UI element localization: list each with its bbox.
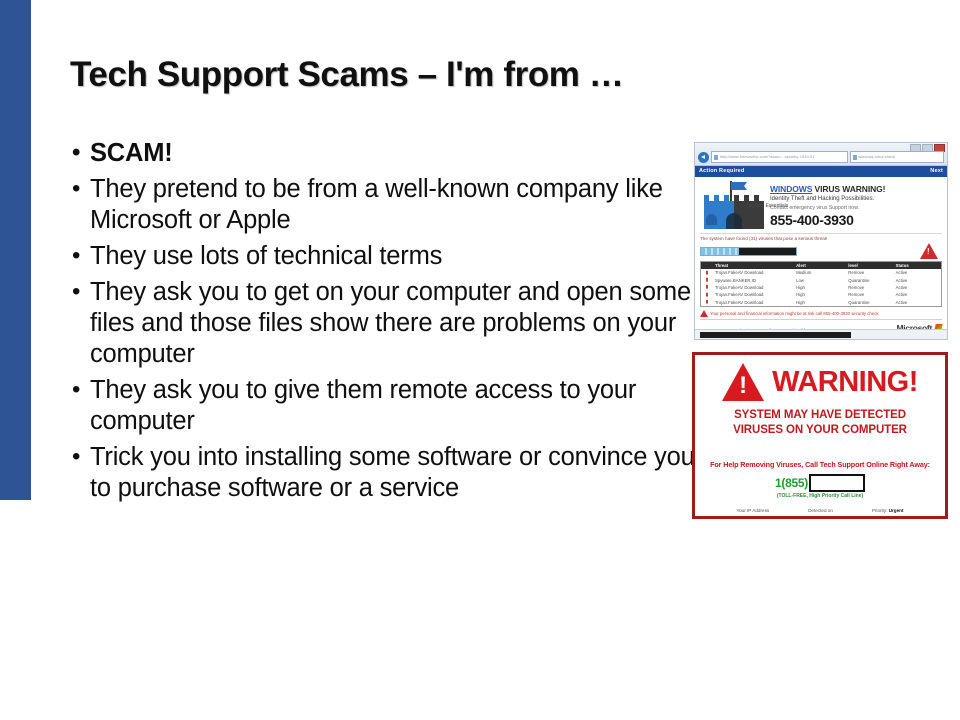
meta-priority: Priority: Urgent bbox=[872, 508, 904, 513]
warning-subtext-line2: VIRUSES ON YOUR COMPUTER bbox=[703, 423, 937, 438]
slide-canvas: Tech Support Scams – I'm from … SCAM! Th… bbox=[0, 0, 960, 720]
toll-free-note: (TOLL-FREE, High Priority Call Line) bbox=[703, 493, 937, 499]
security-essentials-label: Security Essentials bbox=[746, 203, 788, 209]
threat-icon: ▮ bbox=[701, 299, 713, 307]
cell-alert: Trojan.FakeAV Download bbox=[713, 299, 794, 307]
cell-state: Active bbox=[894, 269, 942, 276]
list-item: They use lots of technical terms bbox=[70, 241, 700, 272]
fake-browser-screenshot: http://www.freewarrior.com/?scan=...secu… bbox=[694, 142, 948, 340]
cell-status: Remove bbox=[846, 284, 893, 291]
table-row: ▮ Spyware.BANKER.ID Low Quarantine Activ… bbox=[701, 276, 942, 283]
cell-state: Active bbox=[894, 291, 942, 298]
th-status: Status bbox=[894, 262, 942, 270]
meta-detected-on: Detected on bbox=[808, 508, 833, 513]
horizontal-scrollbar[interactable] bbox=[695, 329, 947, 339]
warning-popup-body: WARNING! SYSTEM MAY HAVE DETECTED VIRUSE… bbox=[695, 355, 945, 513]
list-item: They ask you to get on your computer and… bbox=[70, 277, 700, 370]
cell-level: High bbox=[794, 299, 846, 307]
cell-alert: Trojan.FakeAV Download bbox=[713, 291, 794, 298]
cell-level: Low bbox=[794, 276, 846, 283]
phone-number-row: 1(855) bbox=[703, 474, 937, 492]
virus-warning-subtitle: Identity Theft and Hacking Possibilities… bbox=[770, 196, 942, 202]
security-essentials-castle-icon: Security Essentials bbox=[704, 181, 766, 229]
fake-warning-popup-screenshot: WARNING! SYSTEM MAY HAVE DETECTED VIRUSE… bbox=[692, 352, 948, 519]
scan-progress-row bbox=[700, 243, 942, 259]
warning-subtext: SYSTEM MAY HAVE DETECTED VIRUSES ON YOUR… bbox=[703, 408, 937, 438]
th-level: level bbox=[846, 262, 893, 270]
cell-level: High bbox=[794, 291, 846, 298]
cell-status: Remove bbox=[846, 269, 893, 276]
warning-meta-row: Your IP Address Detected on Priority: Ur… bbox=[703, 508, 937, 513]
threat-icon: ▮ bbox=[701, 269, 713, 276]
table-row: ▮ Trojan.FakeAV Download High Quarantine… bbox=[701, 299, 942, 307]
risk-warning-text: Your personal and financial information … bbox=[710, 311, 878, 316]
list-item: Trick you into installing some software … bbox=[70, 442, 700, 504]
warning-hero: Security Essentials WINDOWS VIRUS WARNIN… bbox=[700, 181, 942, 229]
virus-warning-rest: VIRUS WARNING! bbox=[812, 184, 885, 194]
scrollbar-thumb[interactable] bbox=[700, 332, 851, 338]
threat-icon: ▮ bbox=[701, 291, 713, 298]
scan-progress-bar bbox=[700, 247, 797, 256]
threat-icon: ▮ bbox=[701, 276, 713, 283]
meta-ip-address: Your IP Address bbox=[736, 508, 769, 513]
cell-alert: Trojan.FakeAV Download bbox=[713, 284, 794, 291]
virus-warning-title: WINDOWS VIRUS WARNING! bbox=[770, 184, 942, 194]
cell-state: Active bbox=[894, 276, 942, 283]
call-support-prompt: For Help Removing Viruses, Call Tech Sup… bbox=[703, 460, 937, 469]
table-header-row: Threat Alert level Status bbox=[701, 262, 942, 270]
windows-link[interactable]: WINDOWS bbox=[770, 184, 812, 194]
action-required-label: Action Required bbox=[699, 166, 744, 177]
cell-state: Active bbox=[894, 299, 942, 307]
cell-status: Quarantine bbox=[846, 299, 893, 307]
viruses-found-line: The system have found (31) viruses that … bbox=[700, 233, 942, 241]
list-item: They pretend to be from a well-known com… bbox=[70, 174, 700, 236]
th-alert: Alert bbox=[794, 262, 846, 270]
support-phone-number: 855-400-3930 bbox=[770, 212, 942, 228]
cell-alert: Spyware.BANKER.ID bbox=[713, 276, 794, 283]
phone-prefix: 1(855) bbox=[775, 476, 808, 490]
warning-triangle-icon bbox=[920, 243, 938, 259]
browser-page-body: Security Essentials WINDOWS VIRUS WARNIN… bbox=[695, 177, 947, 333]
table-row: ▮ Trojan.FakeAV Download High Remove Act… bbox=[701, 284, 942, 291]
list-item: They ask you to give them remote access … bbox=[70, 375, 700, 437]
action-required-next: Next bbox=[930, 166, 943, 177]
warning-hero-text: WINDOWS VIRUS WARNING! Identity Theft an… bbox=[770, 181, 942, 228]
table-row: ▮ Trojan.FakeAV Download High Remove Act… bbox=[701, 291, 942, 298]
cell-status: Quarantine bbox=[846, 276, 893, 283]
table-row: ▮ Trojan.FakeAV Download Medium Remove A… bbox=[701, 269, 942, 276]
warning-headline: WARNING! bbox=[772, 365, 918, 399]
slide-accent-bar bbox=[0, 0, 31, 500]
meta-priority-value: Urgent bbox=[889, 508, 904, 513]
back-arrow-icon bbox=[698, 152, 709, 163]
browser-chrome: http://www.freewarrior.com/?scan=...secu… bbox=[695, 143, 947, 166]
risk-warning-line: Your personal and financial information … bbox=[700, 310, 942, 320]
threat-icon: ▮ bbox=[701, 284, 713, 291]
list-item: SCAM! bbox=[70, 138, 700, 169]
exclamation-triangle-icon bbox=[722, 363, 764, 401]
address-bar: http://www.freewarrior.com/?scan=...secu… bbox=[711, 151, 848, 163]
cell-alert: Trojan.FakeAV Download bbox=[713, 269, 794, 276]
browser-nav-row: http://www.freewarrior.com/?scan=...secu… bbox=[698, 151, 944, 163]
cell-level: Medium bbox=[794, 269, 846, 276]
cell-status: Remove bbox=[846, 291, 893, 298]
threat-table: Threat Alert level Status ▮ Trojan.FakeA… bbox=[700, 261, 942, 307]
bullet-list: SCAM! They pretend to be from a well-kno… bbox=[70, 138, 700, 509]
th-threat: Threat bbox=[713, 262, 794, 270]
warning-headline-row: WARNING! bbox=[703, 363, 937, 401]
small-warning-triangle-icon bbox=[700, 310, 708, 317]
phone-number-box bbox=[809, 474, 865, 492]
page-title: Tech Support Scams – I'm from … bbox=[70, 55, 623, 95]
cell-level: High bbox=[794, 284, 846, 291]
cell-state: Active bbox=[894, 284, 942, 291]
warning-subtext-line1: SYSTEM MAY HAVE DETECTED bbox=[703, 408, 937, 423]
browser-tab: windows-virus-check bbox=[850, 151, 944, 163]
meta-priority-label: Priority: bbox=[872, 508, 888, 513]
action-required-bar: Action Required Next bbox=[695, 166, 947, 177]
virus-warning-contact-line: Contact emergency virus Support now. bbox=[770, 205, 942, 211]
